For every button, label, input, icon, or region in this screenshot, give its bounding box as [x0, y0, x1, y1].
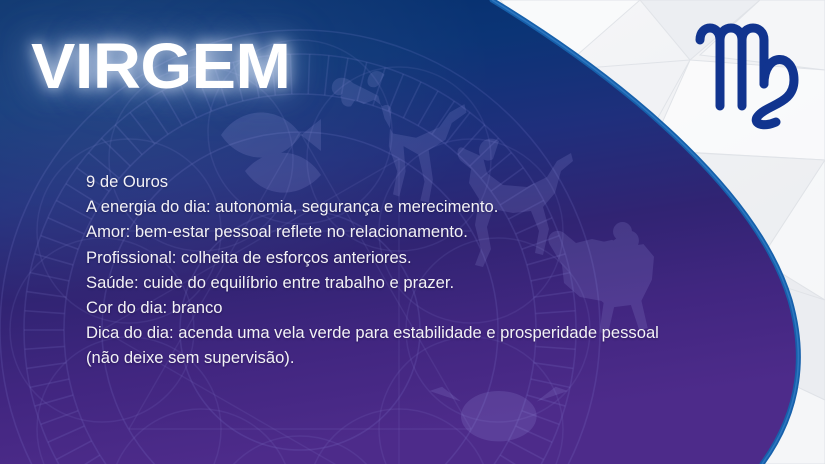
horoscope-line-energy: A energia do dia: autonomia, segurança e…: [86, 194, 746, 219]
horoscope-card: VIRGEM 9 de Ouros A energia do dia: auto…: [0, 0, 825, 464]
horoscope-line-professional: Profissional: colheita de esforços anter…: [86, 245, 746, 270]
horoscope-line-tip: Dica do dia: acenda uma vela verde para …: [86, 320, 746, 345]
horoscope-text-block: 9 de Ouros A energia do dia: autonomia, …: [86, 169, 746, 371]
virgo-zodiac-icon: [690, 6, 810, 136]
horoscope-line-card: 9 de Ouros: [86, 169, 746, 194]
horoscope-line-health: Saúde: cuide do equilíbrio entre trabalh…: [86, 270, 746, 295]
horoscope-line-color: Cor do dia: branco: [86, 295, 746, 320]
sign-title: VIRGEM: [31, 34, 290, 98]
horoscope-line-tip-note: (não deixe sem supervisão).: [86, 345, 746, 370]
horoscope-line-love: Amor: bem-estar pessoal reflete no relac…: [86, 219, 746, 244]
